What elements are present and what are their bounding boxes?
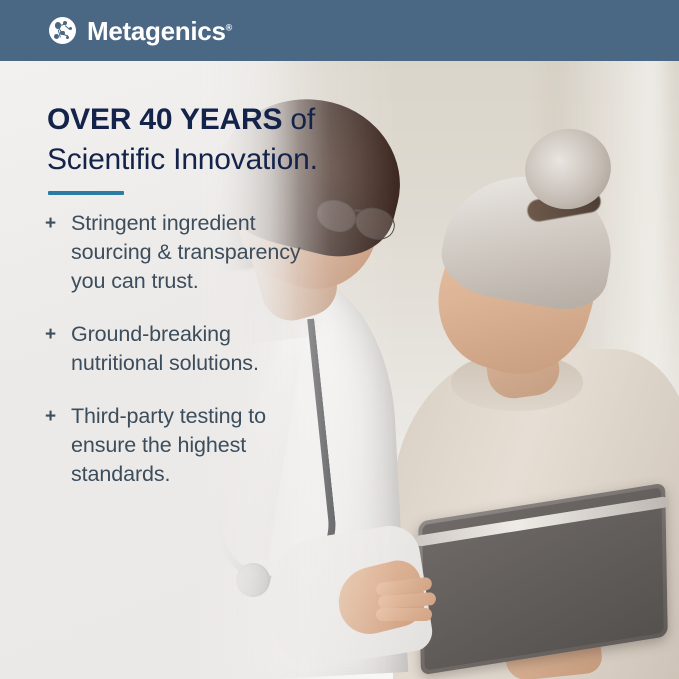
- list-item-label: Third-party testing to ensure the highes…: [71, 402, 303, 489]
- promo-banner: Metagenics® OVER 40 YEARS of Scientific …: [0, 0, 679, 679]
- list-item: + Ground-breaking nutritional solutions.: [44, 320, 312, 378]
- headline-connector: of: [282, 103, 315, 136]
- list-item: + Stringent ingredient sourcing & transp…: [44, 209, 312, 296]
- brand-lockup[interactable]: Metagenics®: [49, 17, 232, 44]
- doctor-finger: [376, 608, 432, 621]
- list-item-label: Ground-breaking nutritional solutions.: [71, 320, 303, 378]
- plus-icon: +: [44, 209, 71, 238]
- metagenics-molecule-icon: [49, 17, 76, 44]
- plus-icon: +: [44, 402, 71, 431]
- brand-name-text: Metagenics: [87, 16, 226, 46]
- accent-divider: [48, 191, 124, 195]
- eyeglasses-bridge: [354, 209, 362, 211]
- plus-icon: +: [44, 320, 71, 349]
- list-item: + Third-party testing to ensure the high…: [44, 402, 312, 489]
- benefits-list: + Stringent ingredient sourcing & transp…: [44, 209, 312, 513]
- brand-header-bar: Metagenics®: [0, 0, 679, 61]
- list-item-label: Stringent ingredient sourcing & transpar…: [71, 209, 303, 296]
- headline-emphasis: OVER 40 YEARS: [47, 103, 282, 136]
- headline-second-line: Scientific Innovation.: [47, 140, 377, 180]
- registered-trademark-mark: ®: [226, 22, 233, 32]
- brand-wordmark: Metagenics®: [87, 18, 232, 44]
- page-title: OVER 40 YEARS of Scientific Innovation.: [47, 100, 377, 179]
